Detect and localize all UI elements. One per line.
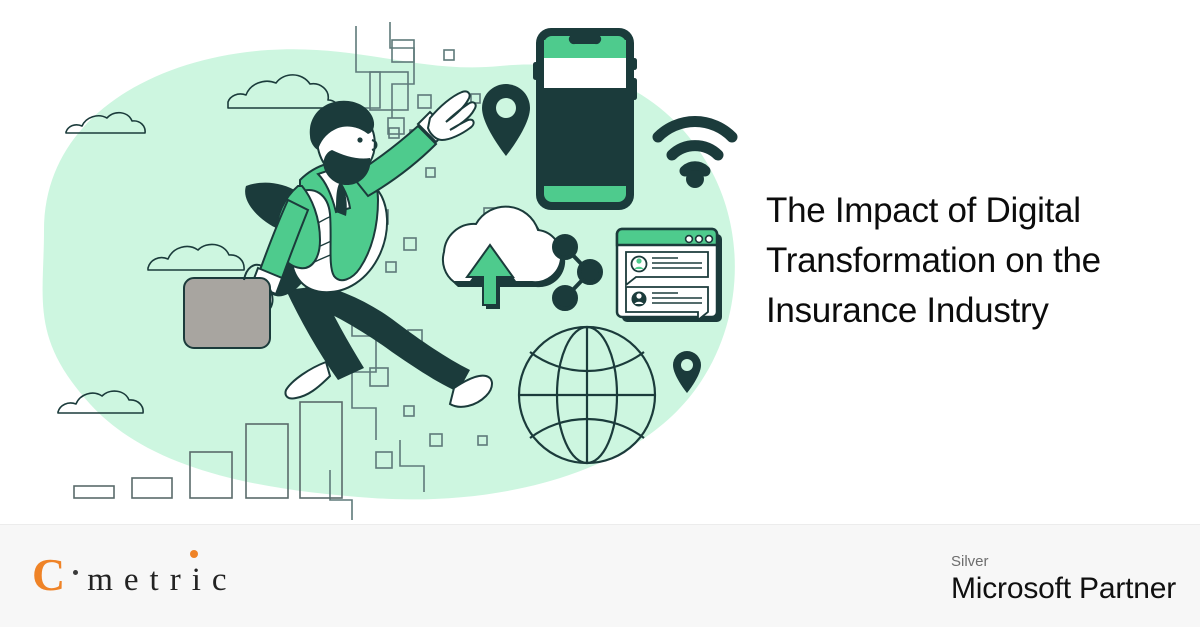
hero-illustration (0, 0, 760, 524)
browser-chat-window (617, 229, 722, 322)
logo-initial: C (32, 552, 65, 598)
cmetric-logo[interactable]: C metric (32, 552, 238, 600)
partner-tier-label: Silver (951, 553, 1176, 571)
briefcase (184, 265, 270, 348)
illustration-svg (0, 0, 760, 524)
logo-separator-dot (73, 570, 78, 575)
browser-dots (686, 236, 713, 243)
logo-wordmark-text: metric (87, 562, 237, 598)
wifi-dot (686, 170, 704, 188)
logo-wordmark: metric (87, 564, 237, 597)
microsoft-partner-badge: Silver Microsoft Partner (951, 553, 1176, 607)
title-line-1: The Impact of Digital (766, 186, 1186, 236)
bar-1 (74, 486, 114, 498)
partner-name-label: Microsoft Partner (951, 571, 1176, 607)
hero-banner: The Impact of Digital Transformation on … (0, 0, 1200, 524)
bar-2 (132, 478, 172, 498)
smartphone-icon (533, 28, 637, 210)
title-line-3: Insurance Industry (766, 286, 1186, 336)
logo-i-dot (190, 550, 198, 558)
footer-bar: C metric Silver Microsoft Partner (0, 524, 1200, 627)
globe-icon (519, 327, 655, 463)
page-title: The Impact of Digital Transformation on … (766, 186, 1186, 336)
eye (357, 137, 362, 142)
page-root: The Impact of Digital Transformation on … (0, 0, 1200, 627)
title-line-2: Transformation on the (766, 236, 1186, 286)
